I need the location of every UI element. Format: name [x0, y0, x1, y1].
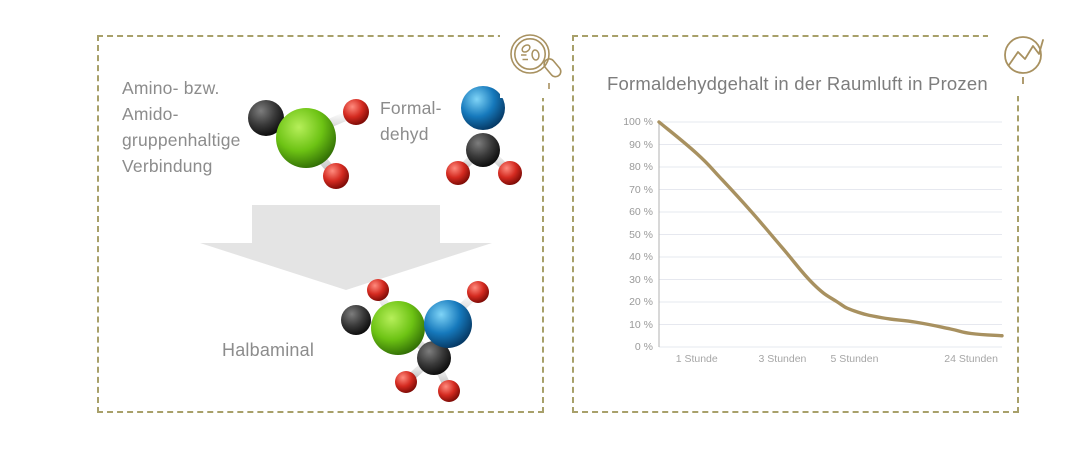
y-axis-tick-label: 10 % — [629, 319, 653, 331]
x-axis-tick-label: 1 Stunde — [676, 353, 718, 365]
x-axis-tick-label: 24 Stunden — [944, 353, 998, 365]
data-line — [659, 122, 1002, 336]
plot-area — [659, 122, 1002, 347]
magnifier-molecule-icon — [500, 24, 574, 98]
y-axis-tick-label: 60 % — [629, 206, 653, 218]
halbaminal-label: Halbaminal — [222, 337, 422, 363]
y-axis-tick-label: 0 % — [635, 341, 653, 353]
x-axis-tick-label: 5 Stunden — [831, 353, 879, 365]
chart-svg — [659, 122, 1002, 347]
trend-chart-icon — [988, 22, 1062, 96]
amino-compound-molecule — [238, 82, 378, 197]
y-axis-tick-label: 20 % — [629, 296, 653, 308]
y-axis-tick-label: 90 % — [629, 139, 653, 151]
x-axis-tick-label: 3 Stunden — [759, 353, 807, 365]
y-axis-tick-label: 70 % — [629, 184, 653, 196]
y-axis-tick-label: 100 % — [623, 116, 653, 128]
page-root: Amino- bzw. Amido- gruppenhaltige Verbin… — [0, 0, 1080, 462]
gridlines — [659, 122, 1002, 347]
y-axis: 100 %90 %80 %70 %60 %50 %40 %30 %20 %10 … — [607, 122, 653, 347]
y-axis-tick-label: 30 % — [629, 274, 653, 286]
y-axis-tick-label: 40 % — [629, 251, 653, 263]
y-axis-tick-label: 80 % — [629, 161, 653, 173]
line-chart: 100 %90 %80 %70 %60 %50 %40 %30 %20 %10 … — [607, 122, 1002, 382]
y-axis-tick-label: 50 % — [629, 229, 653, 241]
chart-title: Formaldehydgehalt in der Raumluft in Pro… — [607, 73, 993, 95]
x-axis: 1 Stunde3 Stunden5 Stunden24 Stunden — [653, 353, 1002, 375]
